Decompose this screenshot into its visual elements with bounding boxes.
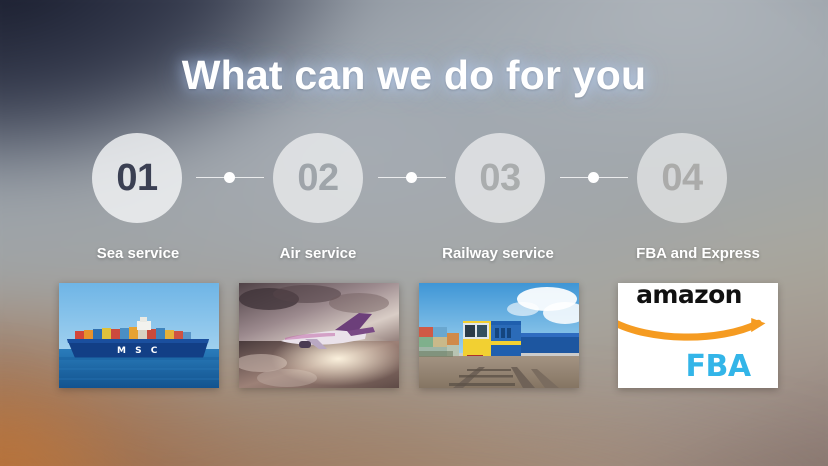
svg-text:M S C: M S C (117, 346, 160, 356)
step-number-03: 03 (479, 159, 520, 197)
step-number-04: 04 (661, 159, 702, 197)
connector-dot-icon (406, 172, 417, 183)
amazon-fba-logo-inner: amazon FBA (618, 283, 778, 388)
freight-train-photo (419, 283, 579, 388)
step-circle-03[interactable]: 03 (455, 133, 545, 223)
connector-dot-icon (588, 172, 599, 183)
train-illustration (419, 283, 579, 388)
step-circle-02[interactable]: 02 (273, 133, 363, 223)
airplane-illustration (239, 283, 399, 388)
airplane-photo (239, 283, 399, 388)
step-label-sea: Sea service (38, 245, 238, 262)
container-ship-photo: M S C (59, 283, 219, 388)
connector-dot-icon (224, 172, 235, 183)
step-number-01: 01 (116, 159, 157, 197)
connector-1-2 (196, 172, 264, 184)
connector-2-3 (378, 172, 446, 184)
fba-wordmark: FBA (685, 352, 750, 382)
connector-3-4 (560, 172, 628, 184)
step-number-02: 02 (297, 159, 338, 197)
step-label-fba: FBA and Express (598, 245, 798, 262)
step-label-railway: Railway service (398, 245, 598, 262)
step-label-air: Air service (218, 245, 418, 262)
steps-row: 01 02 03 04 Sea service Air service Rail… (0, 0, 828, 466)
amazon-fba-logo: amazon FBA (618, 283, 778, 388)
step-circle-04[interactable]: 04 (637, 133, 727, 223)
step-circle-01[interactable]: 01 (92, 133, 182, 223)
slide-canvas: What can we do for you 01 02 03 04 Sea (0, 0, 828, 466)
container-ship-illustration: M S C (59, 283, 219, 388)
amazon-swoosh-icon (618, 303, 769, 354)
